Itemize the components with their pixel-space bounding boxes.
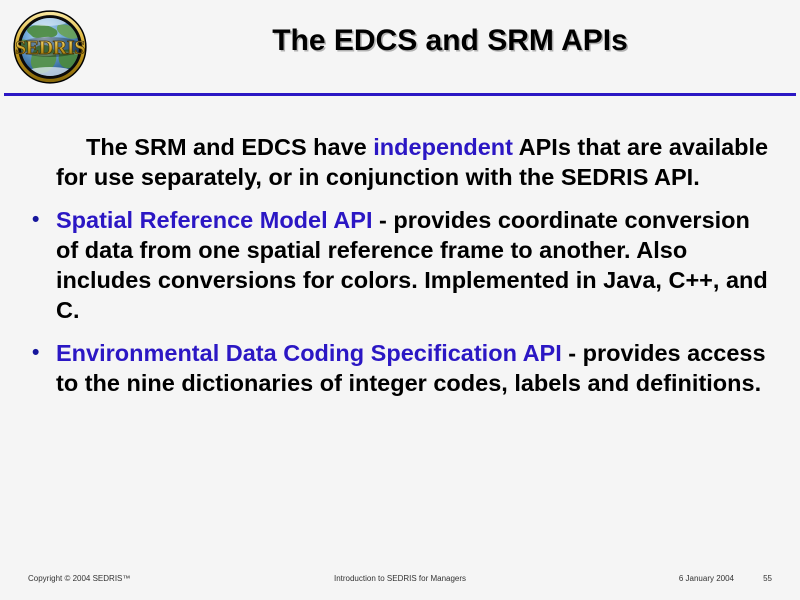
page-title: The EDCS and SRM APIs <box>120 24 780 58</box>
footer-date: 6 January 2004 <box>679 574 734 583</box>
list-item: • Spatial Reference Model API - provides… <box>28 205 776 325</box>
slide-body: The SRM and EDCS have independent APIs t… <box>28 132 776 398</box>
slide-footer: Copyright © 2004 SEDRIS™ Introduction to… <box>0 560 800 600</box>
intro-highlight: independent <box>373 134 513 160</box>
bullet-icon: • <box>32 205 39 235</box>
sedris-logo: SEDRIS <box>8 10 92 84</box>
list-item-text: Environmental Data Coding Specification … <box>56 338 776 398</box>
presentation-slide: SEDRIS The EDCS and SRM APIs The SRM and… <box>0 0 800 600</box>
list-item-text: Spatial Reference Model API - provides c… <box>56 205 776 325</box>
footer-page-number: 55 <box>763 574 772 583</box>
list-item-term: Spatial Reference Model API <box>56 207 372 233</box>
title-divider <box>4 93 796 96</box>
intro-paragraph: The SRM and EDCS have independent APIs t… <box>28 132 776 192</box>
list-item: • Environmental Data Coding Specificatio… <box>28 338 776 398</box>
svg-text:SEDRIS: SEDRIS <box>15 37 85 59</box>
slide-header: SEDRIS The EDCS and SRM APIs <box>0 0 800 96</box>
bullet-icon: • <box>32 338 39 368</box>
intro-text-part1: The SRM and EDCS have <box>86 134 373 160</box>
list-item-term: Environmental Data Coding Specification … <box>56 340 562 366</box>
